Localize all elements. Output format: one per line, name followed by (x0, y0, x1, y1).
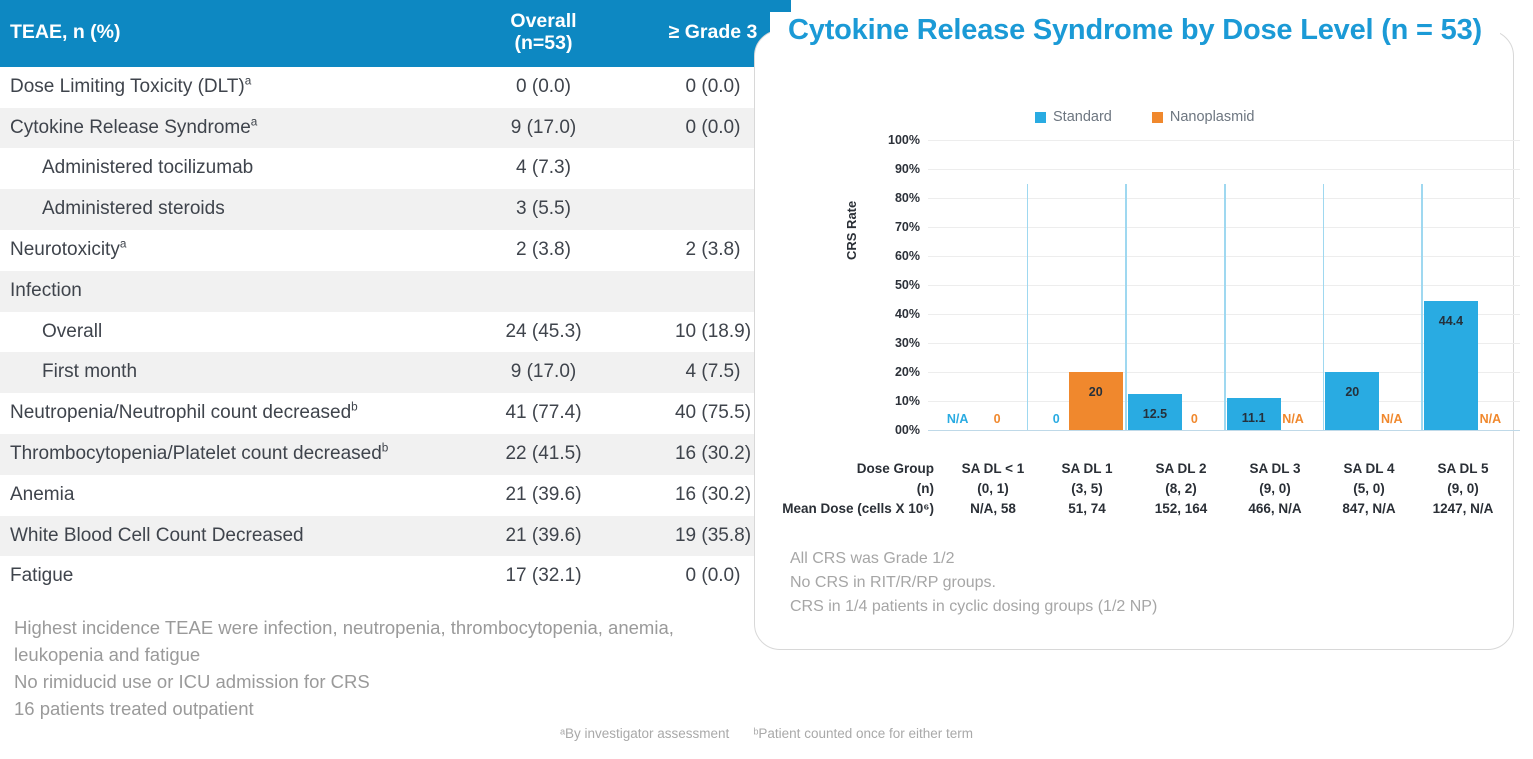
page-footnote-item: ᵃBy investigator assessment (560, 726, 729, 741)
x-axis-mean-dose-cell: 847, N/A (1322, 501, 1416, 516)
table-cell-overall: 21 (39.6) (452, 475, 635, 516)
footnote-marker: b (382, 442, 389, 455)
footnote-marker: a (245, 75, 252, 88)
category-separator (1125, 184, 1127, 431)
bar-value-label: 20 (1069, 385, 1123, 399)
table-cell-label: Neurotoxicitya (0, 230, 452, 271)
column-header-overall-line1: Overall (462, 10, 625, 32)
y-axis-tick-label: 10% (868, 394, 920, 408)
x-axis-mean-dose-title: Mean Dose (cells X 10⁶) (780, 501, 946, 516)
x-axis-mean-dose-cell: 152, 164 (1134, 501, 1228, 516)
x-axis-n-cell: (8, 2) (1134, 481, 1228, 496)
y-axis-tick-label: 80% (868, 191, 920, 205)
column-header-overall-line2: (n=53) (462, 32, 625, 54)
table-row: Cytokine Release Syndromea9 (17.0)0 (0.0… (0, 108, 791, 149)
chart-title: Cytokine Release Syndrome by Dose Level … (770, 12, 1500, 49)
table-header-row: TEAE, n (%) Overall (n=53) ≥ Grade 3 (0, 0, 791, 67)
table-cell-label: Anemia (0, 475, 452, 516)
chart-note-line: All CRS was Grade 1/2 (790, 547, 1157, 571)
teae-table-panel: TEAE, n (%) Overall (n=53) ≥ Grade 3 Dos… (0, 0, 740, 759)
legend-label-standard: Standard (1053, 109, 1112, 125)
x-axis-row-n: (n)(0, 1)(3, 5)(8, 2)(9, 0)(5, 0)(9, 0) (780, 478, 1520, 498)
chart-bar: 20 (1069, 372, 1123, 430)
category-separator (1027, 184, 1029, 431)
x-axis-dose-group-title: Dose Group (780, 461, 946, 476)
chart-legend: Standard Nanoplasmid (1035, 109, 1255, 125)
table-note-line: No rimiducid use or ICU admission for CR… (14, 669, 714, 696)
x-axis-mean-dose-cell: N/A, 58 (946, 501, 1040, 516)
table-body: Dose Limiting Toxicity (DLT)a0 (0.0)0 (0… (0, 67, 791, 597)
chart-note-line: CRS in 1/4 patients in cyclic dosing gro… (790, 595, 1157, 619)
table-row: Anemia21 (39.6)16 (30.2) (0, 475, 791, 516)
x-axis-dose-group-cell: SA DL 4 (1322, 461, 1416, 476)
legend-entry-nanoplasmid: Nanoplasmid (1152, 109, 1255, 125)
column-header-teae: TEAE, n (%) (0, 0, 452, 67)
y-axis-tick-label: 20% (868, 365, 920, 379)
table-cell-overall (452, 271, 635, 312)
footnote-marker: a (251, 115, 258, 128)
x-axis-dose-group-cell: SA DL 2 (1134, 461, 1228, 476)
y-axis-title: CRS Rate (844, 201, 859, 260)
category-separator (1224, 184, 1226, 431)
table-cell-label: Infection (0, 271, 452, 312)
table-cell-label: Dose Limiting Toxicity (DLT)a (0, 67, 452, 108)
plot-area: N/A002012.5011.1N/A20N/A44.4N/A (928, 140, 1520, 431)
bar-value-label: N/A (1365, 412, 1419, 426)
y-axis-tick-label: 60% (868, 249, 920, 263)
y-axis-tick-label: 90% (868, 162, 920, 176)
table-cell-label: Cytokine Release Syndromea (0, 108, 452, 149)
table-header: TEAE, n (%) Overall (n=53) ≥ Grade 3 (0, 0, 791, 67)
x-axis-dose-group-cell: SA DL 1 (1040, 461, 1134, 476)
y-axis-ticks: 00%10%20%30%40%50%60%70%80%90%100% (868, 140, 920, 430)
y-axis-tick-label: 30% (868, 336, 920, 350)
table-cell-overall: 0 (0.0) (452, 67, 635, 108)
chart-notes-block: All CRS was Grade 1/2No CRS in RIT/R/RP … (790, 547, 1157, 619)
x-axis-n-cell: (9, 0) (1416, 481, 1510, 496)
x-axis-mean-dose-cell: 1247, N/A (1416, 501, 1510, 516)
footnote-marker: b (351, 401, 358, 414)
table-cell-overall: 4 (7.3) (452, 148, 635, 189)
table-cell-label: Thrombocytopenia/Platelet count decrease… (0, 434, 452, 475)
column-header-overall: Overall (n=53) (452, 0, 635, 67)
x-axis-n-cell: (9, 0) (1228, 481, 1322, 496)
table-cell-overall: 3 (5.5) (452, 189, 635, 230)
table-cell-label: Overall (0, 312, 452, 353)
legend-label-nanoplasmid: Nanoplasmid (1170, 109, 1255, 125)
x-axis-n-cell: (3, 5) (1040, 481, 1134, 496)
table-cell-overall: 9 (17.0) (452, 352, 635, 393)
table-row: Fatigue17 (32.1)0 (0.0) (0, 556, 791, 597)
y-axis-tick-label: 40% (868, 307, 920, 321)
teae-table: TEAE, n (%) Overall (n=53) ≥ Grade 3 Dos… (0, 0, 791, 597)
x-axis-dose-group-cell: SA DL < 1 (946, 461, 1040, 476)
page-footnote: ᵃBy investigator assessmentᵇPatient coun… (0, 726, 1533, 741)
table-row: Neutropenia/Neutrophil count decreasedb4… (0, 393, 791, 434)
x-axis-mean-dose-cell: 51, 74 (1040, 501, 1134, 516)
table-row: Infection (0, 271, 791, 312)
x-axis-block: Dose GroupSA DL < 1SA DL 1SA DL 2SA DL 3… (780, 458, 1520, 518)
bar-value-label: N/A (1463, 412, 1517, 426)
table-note-line: Highest incidence TEAE were infection, n… (14, 615, 714, 669)
y-axis-tick-label: 70% (868, 220, 920, 234)
x-axis-n-title: (n) (780, 481, 946, 496)
category-separator (1323, 184, 1325, 431)
table-cell-label: First month (0, 352, 452, 393)
table-note-line: 16 patients treated outpatient (14, 696, 714, 723)
bar-value-label: 0 (1167, 412, 1221, 426)
legend-entry-standard: Standard (1035, 109, 1112, 125)
bar-value-label: 44.4 (1424, 314, 1478, 328)
page-footnote-item: ᵇPatient counted once for either term (753, 726, 973, 741)
y-axis-tick-label: 100% (868, 133, 920, 147)
table-cell-label: Administered steroids (0, 189, 452, 230)
table-cell-overall: 24 (45.3) (452, 312, 635, 353)
x-axis-n-cell: (5, 0) (1322, 481, 1416, 496)
table-row: Neurotoxicitya2 (3.8)2 (3.8) (0, 230, 791, 271)
x-axis-n-cell: (0, 1) (946, 481, 1040, 496)
gridline (928, 169, 1520, 170)
x-axis-dose-group-cell: SA DL 5 (1416, 461, 1510, 476)
bar-value-label: 0 (970, 412, 1024, 426)
table-cell-overall: 17 (32.1) (452, 556, 635, 597)
table-cell-overall: 21 (39.6) (452, 516, 635, 557)
chart-note-line: No CRS in RIT/R/RP groups. (790, 571, 1157, 595)
bar-value-label: N/A (1266, 412, 1320, 426)
table-cell-overall: 41 (77.4) (452, 393, 635, 434)
table-row: First month9 (17.0)4 (7.5) (0, 352, 791, 393)
legend-swatch-nanoplasmid-icon (1152, 112, 1163, 123)
table-row: Overall24 (45.3)10 (18.9) (0, 312, 791, 353)
footnote-marker: a (120, 238, 127, 251)
legend-swatch-standard-icon (1035, 112, 1046, 123)
table-row: White Blood Cell Count Decreased21 (39.6… (0, 516, 791, 557)
table-cell-label: Fatigue (0, 556, 452, 597)
table-notes-block: Highest incidence TEAE were infection, n… (0, 615, 714, 722)
table-cell-overall: 2 (3.8) (452, 230, 635, 271)
table-row: Thrombocytopenia/Platelet count decrease… (0, 434, 791, 475)
table-cell-label: White Blood Cell Count Decreased (0, 516, 452, 557)
table-cell-overall: 9 (17.0) (452, 108, 635, 149)
y-axis-tick-label: 50% (868, 278, 920, 292)
plot-wrapper: CRS Rate 00%10%20%30%40%50%60%70%80%90%1… (854, 140, 1520, 448)
table-row: Dose Limiting Toxicity (DLT)a0 (0.0)0 (0… (0, 67, 791, 108)
category-separator (1421, 184, 1423, 431)
table-row: Administered tocilizumab4 (7.3) (0, 148, 791, 189)
chart-bar: 44.4 (1424, 301, 1478, 430)
x-axis-mean-dose-cell: 466, N/A (1228, 501, 1322, 516)
x-axis-row-mean-dose: Mean Dose (cells X 10⁶)N/A, 5851, 74152,… (780, 498, 1520, 518)
bar-value-label: 20 (1325, 385, 1379, 399)
table-cell-label: Neutropenia/Neutrophil count decreasedb (0, 393, 452, 434)
table-row: Administered steroids3 (5.5) (0, 189, 791, 230)
x-axis-row-dose-group: Dose GroupSA DL < 1SA DL 1SA DL 2SA DL 3… (780, 458, 1520, 478)
table-cell-label: Administered tocilizumab (0, 148, 452, 189)
table-cell-overall: 22 (41.5) (452, 434, 635, 475)
x-axis-dose-group-cell: SA DL 3 (1228, 461, 1322, 476)
gridline (928, 140, 1520, 141)
y-axis-tick-label: 00% (868, 423, 920, 437)
